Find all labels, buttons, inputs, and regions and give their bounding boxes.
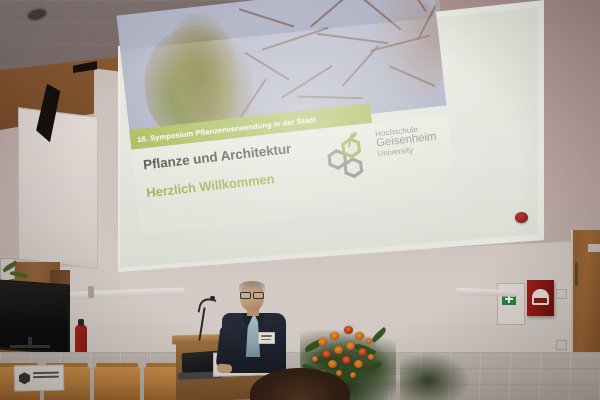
- logo-leaf-icon: [349, 132, 358, 140]
- door-top-plate: [588, 244, 600, 252]
- logo-wordmark: Hochschule Geisenheim University: [375, 124, 438, 159]
- fire-extinguisher-icon: [75, 325, 87, 355]
- slide-title: Pflanze und Architektur: [142, 141, 291, 172]
- flower-bloom: [318, 338, 327, 346]
- microphone-head-icon: [210, 296, 215, 300]
- geisenheim-logo: Hochschule Geisenheim University: [325, 119, 448, 180]
- flower-bloom: [358, 348, 367, 356]
- flower-bloom: [342, 356, 351, 364]
- greenery-right: [400, 352, 470, 400]
- flower-bloom: [354, 360, 363, 368]
- wall-rail-bracket: [88, 286, 94, 298]
- speaker-glasses-icon: [240, 292, 264, 297]
- flower-bloom: [328, 360, 337, 368]
- seat: [94, 366, 140, 400]
- flower-bloom: [346, 342, 355, 350]
- tree-fan-shape: [364, 0, 447, 113]
- slide-subtitle: Herzlich Willkommen: [146, 171, 276, 200]
- flower-bloom: [330, 332, 339, 340]
- flower-bloom: [336, 370, 342, 376]
- flower-bloom: [355, 332, 364, 340]
- flower-bloom: [334, 346, 343, 354]
- wall-socket-lower: [556, 340, 567, 350]
- secondary-sign: [14, 365, 64, 392]
- lecture-hall-photo: 16. Symposium Pflanzenverwendung in der …: [0, 0, 600, 400]
- fire-alarm-window-icon: [532, 289, 549, 305]
- speaker-hand: [217, 363, 233, 373]
- flower-bloom: [368, 354, 374, 360]
- flower-bloom: [322, 350, 331, 358]
- secondary-sign-text-lines: [33, 372, 59, 381]
- presentation-slide: 16. Symposium Pflanzenverwendung in der …: [113, 0, 456, 239]
- wall-monitor: [0, 279, 70, 354]
- logo-hexagon-icon: [325, 133, 375, 178]
- flower-bloom: [344, 326, 353, 334]
- wall-board-left: [18, 107, 98, 269]
- red-indicator-light-icon: [515, 212, 528, 223]
- flower-bloom: [350, 372, 356, 378]
- secondary-sign-hexagon-icon: [19, 372, 30, 384]
- wall-socket-upper: [556, 289, 567, 299]
- speaker-person: [218, 282, 294, 372]
- fire-alarm-call-point[interactable]: [527, 280, 554, 316]
- speaker-name-badge: [258, 332, 275, 344]
- flower-bloom: [312, 356, 318, 362]
- flower-bloom: [366, 338, 372, 344]
- door-handle-icon[interactable]: [575, 262, 578, 286]
